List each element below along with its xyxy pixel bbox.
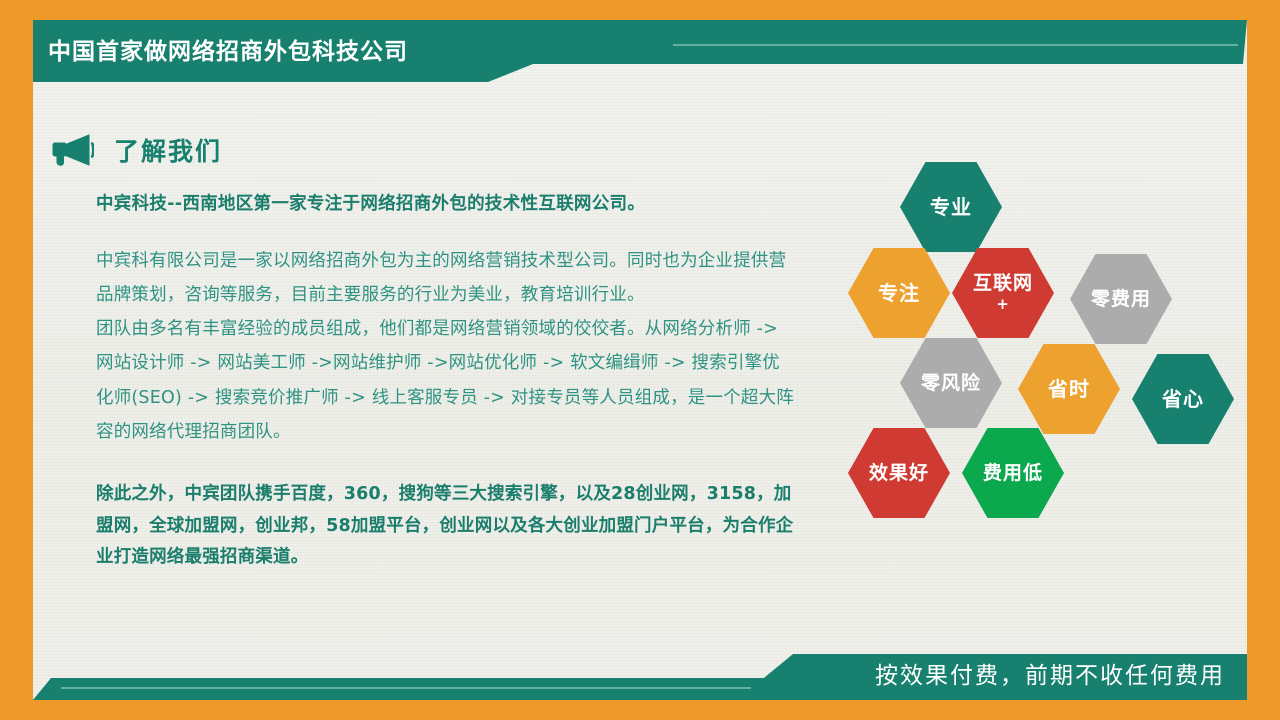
hex-tile-label: 互联网: [973, 273, 1033, 294]
hex-tile: 费用低: [962, 428, 1064, 518]
hex-tile: 省心: [1132, 354, 1234, 444]
hex-tile-label: 专业: [930, 196, 972, 218]
about-copy-block: 中宾科技--西南地区第一家专注于网络招商外包的技术性互联网公司。 中宾科有限公司…: [96, 190, 796, 574]
advantages-hex-cluster: 专业专注互联网+零费用零风险省时省心效果好费用低: [836, 158, 1236, 550]
megaphone-icon: [48, 133, 94, 167]
hex-tile-label: 省时: [1048, 378, 1090, 400]
footer-tagline: 按效果付费，前期不收任何费用: [875, 656, 1225, 690]
hex-tile-label: 零费用: [1091, 289, 1151, 310]
slide-footer: 按效果付费，前期不收任何费用: [33, 644, 1247, 700]
hex-tile-label: 效果好: [869, 463, 929, 484]
footer-divider-line: [61, 687, 751, 689]
channels-paragraph: 除此之外，中宾团队携手百度，360，搜狗等三大搜索引擎，以及28创业网，3158…: [96, 479, 796, 575]
body-paragraph-1: 中宾科有限公司是一家以网络招商外包为主的网络营销技术型公司。同时也为企业提供营品…: [96, 244, 796, 312]
hex-tile: 互联网+: [952, 248, 1054, 338]
hex-tile: 零风险: [900, 338, 1002, 428]
hex-tile-label: 专注: [878, 282, 920, 304]
section-title-label: 了解我们: [114, 132, 222, 168]
hex-tile: 专业: [900, 162, 1002, 252]
hex-tile: 效果好: [848, 428, 950, 518]
lead-statement: 中宾科技--西南地区第一家专注于网络招商外包的技术性互联网公司。: [96, 190, 796, 218]
section-heading: 了解我们: [48, 132, 222, 168]
slide-root: 中国首家做网络招商外包科技公司 了解我们 中宾科技--西南地区第一家专注于网络招…: [0, 0, 1280, 720]
hex-tile: 零费用: [1070, 254, 1172, 344]
hex-tile: 专注: [848, 248, 950, 338]
hex-tile-sublabel: +: [996, 296, 1010, 313]
hex-tile-label: 费用低: [983, 463, 1043, 484]
hex-tile-label: 零风险: [921, 373, 981, 394]
body-paragraph-2: 团队由多名有丰富经验的成员组成，他们都是网络营销领域的佼佼者。从网络分析师 ->…: [96, 312, 796, 449]
hex-tile: 省时: [1018, 344, 1120, 434]
footer-strip-left: [33, 678, 793, 700]
hex-tile-label: 省心: [1162, 388, 1204, 410]
